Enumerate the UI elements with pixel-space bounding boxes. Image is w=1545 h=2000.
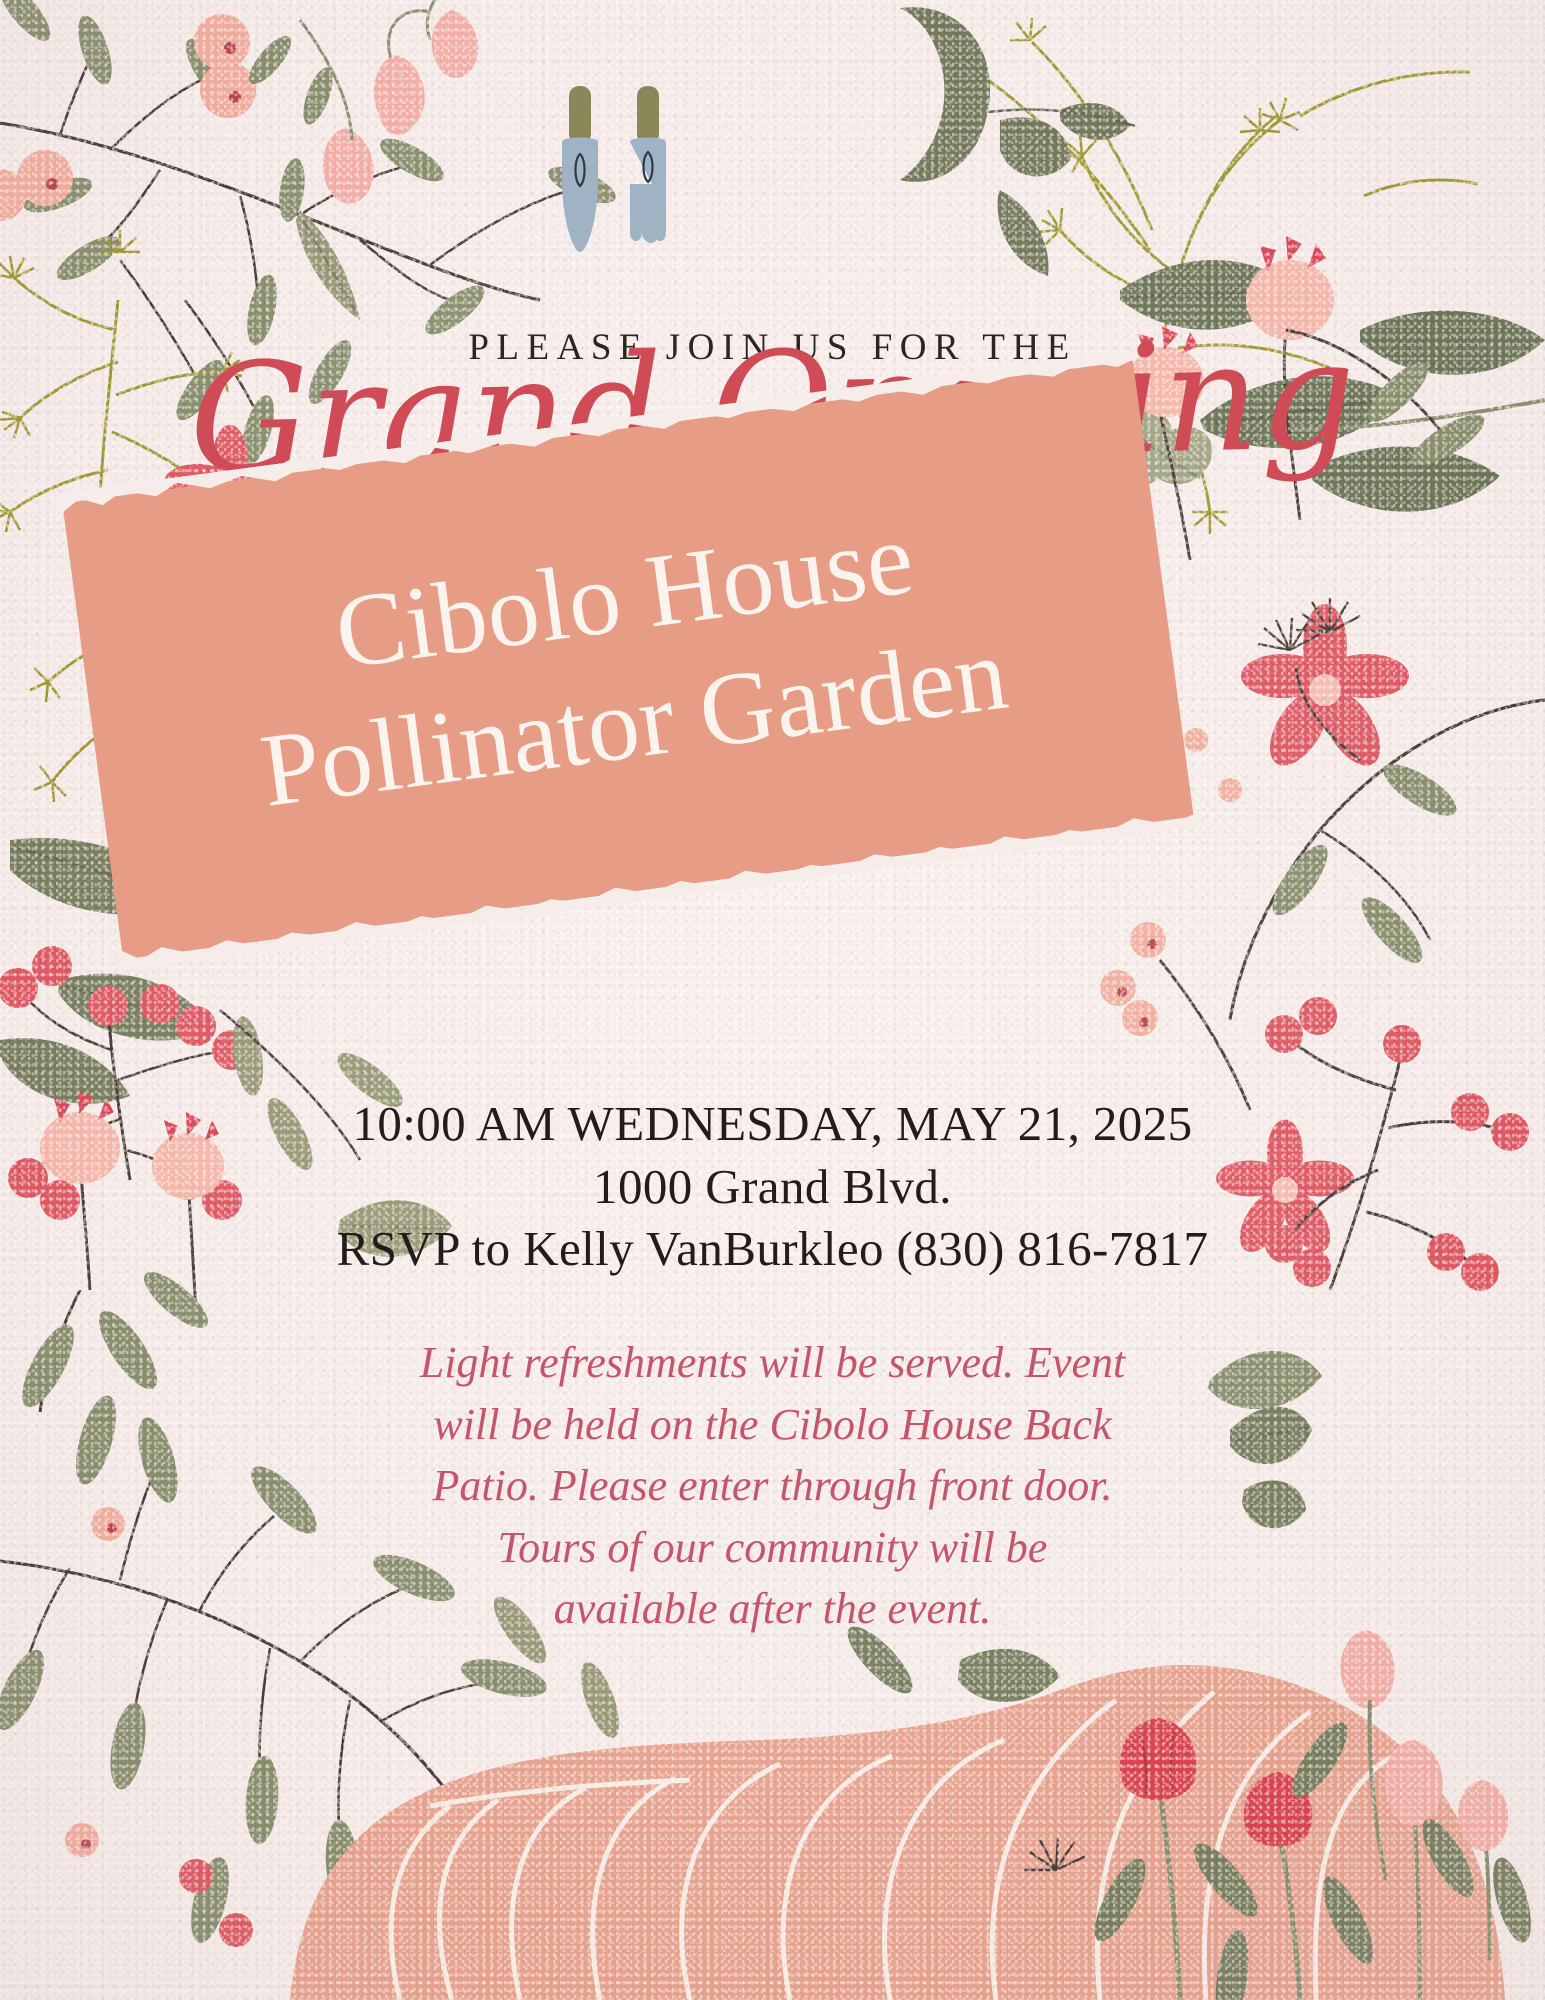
garden-hand-fork-icon <box>630 86 666 243</box>
garden-tools-icon-group <box>548 82 688 262</box>
event-rsvp: RSVP to Kelly VanBurkleo (830) 816-7817 <box>0 1218 1545 1281</box>
garden-trowel-icon <box>562 86 598 252</box>
event-details: 10:00 AM WEDNESDAY, MAY 21, 2025 1000 Gr… <box>0 1093 1545 1281</box>
title-banner: Cibolo House Pollinator Garden <box>88 430 1168 950</box>
event-address: 1000 Grand Blvd. <box>0 1156 1545 1219</box>
event-note: Light refreshments will be served. Event… <box>413 1332 1133 1640</box>
banner-title-text: Cibolo House Pollinator Garden <box>62 361 1193 960</box>
event-datetime: 10:00 AM WEDNESDAY, MAY 21, 2025 <box>0 1093 1545 1156</box>
invitation-poster: PLEASE JOIN US FOR THE Grand Opening Cib… <box>0 0 1545 2000</box>
